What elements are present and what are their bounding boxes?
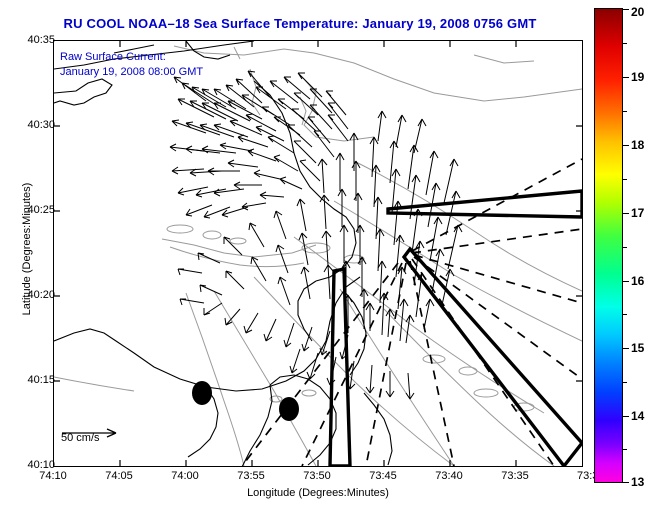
xtick-label-2: 74:00	[155, 470, 215, 482]
colorbar-tick-15: 15	[631, 341, 644, 355]
x-axis-label: Longitude (Degrees:Minutes)	[53, 487, 583, 499]
surface-current-vectors	[170, 71, 462, 399]
scale-legend-label: 50 cm/s	[61, 432, 100, 444]
ytick-label-4: 40:15	[9, 374, 55, 386]
figure-canvas: RU COOL NOAA–18 Sea Surface Temperature:…	[0, 0, 651, 518]
colorbar-tick-17: 17	[631, 206, 644, 220]
colorbar-tick-13: 13	[631, 475, 644, 489]
radar-station-markers	[192, 381, 299, 421]
colorbar-gradient	[594, 8, 623, 483]
xtick-label-1: 74:05	[89, 470, 149, 482]
colorbar-tick-16: 16	[631, 274, 644, 288]
figure-title: RU COOL NOAA–18 Sea Surface Temperature:…	[0, 16, 600, 31]
map-plot-area[interactable]	[53, 40, 583, 467]
bathymetry-contours	[54, 46, 582, 466]
colorbar-tick-14: 14	[631, 409, 644, 423]
map-svg	[54, 41, 582, 466]
annotation-line-1: Raw Surface Current:	[60, 50, 166, 65]
colorbar-tick-19: 19	[631, 70, 644, 84]
colorbar-tick-18: 18	[631, 138, 644, 152]
xtick-label-7: 73:35	[485, 470, 545, 482]
xtick-label-6: 73:40	[419, 470, 479, 482]
colorbar-tick-20: 20	[631, 5, 644, 19]
colorbar[interactable]: 20 19 18 17 16 15 14 13	[594, 8, 623, 483]
ytick-label-1: 40:30	[9, 119, 55, 131]
xtick-label-4: 73:50	[287, 470, 347, 482]
xtick-label-5: 73:45	[353, 470, 413, 482]
xtick-label-3: 73:55	[221, 470, 281, 482]
axis-inner-ticks	[54, 41, 582, 466]
ytick-label-0: 40:35	[9, 34, 55, 46]
annotation-line-2: January 19, 2008 08:00 GMT	[60, 65, 203, 80]
xtick-label-0: 74:10	[23, 470, 83, 482]
y-axis-label: Latitude (Degrees:Minutes)	[21, 149, 33, 349]
